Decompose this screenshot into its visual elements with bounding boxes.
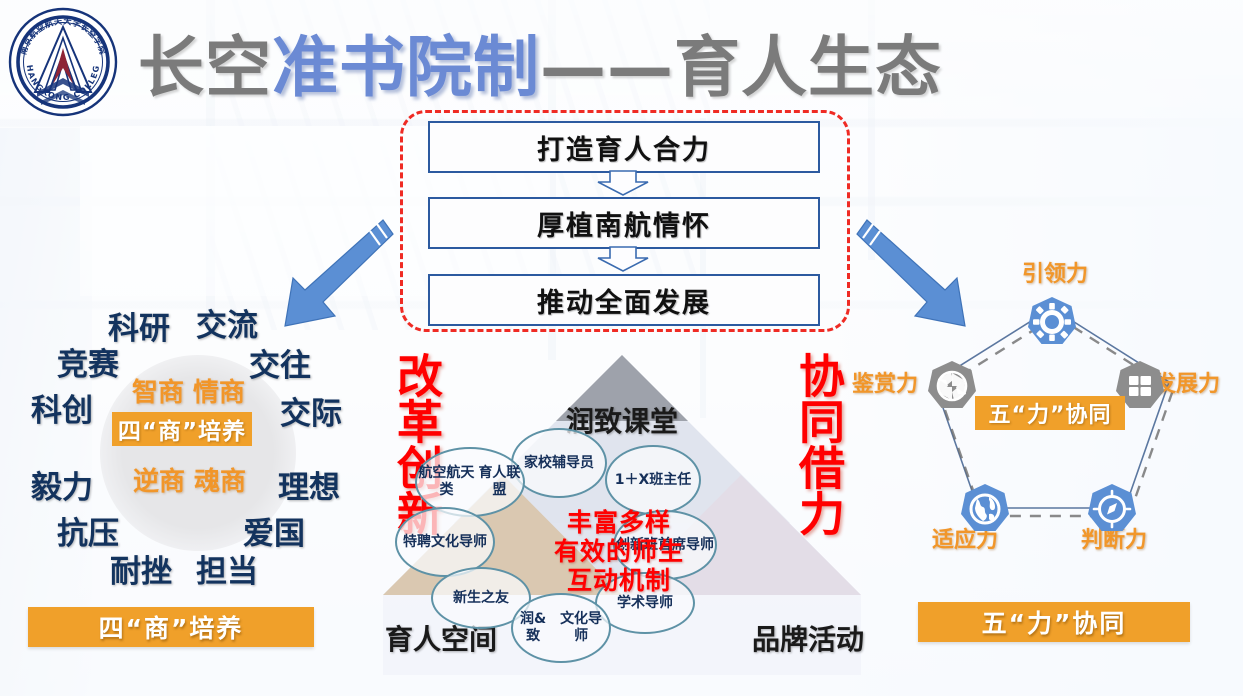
flow-step-2[interactable]: 厚植南航情怀 (428, 197, 820, 249)
pyramid-oval[interactable]: 航空航天类育人联盟 (415, 447, 525, 517)
left-keyword: 耐挫 (110, 546, 172, 591)
flow-step-3[interactable]: 推动全面发展 (428, 274, 820, 326)
pyramid-oval-line: 创新班 (616, 537, 658, 554)
flow-arrow-1-icon (592, 170, 654, 196)
left-keyword: 交往 (249, 340, 311, 385)
changkong-college-logo-icon: 南京航空航天大学长空学院 CHANGKONG COLLEGE (7, 6, 119, 118)
four-shang-inner-top: 智商 情商 (132, 372, 245, 409)
pentagon-node-label: 鉴赏力 (852, 366, 918, 398)
four-shang-chip[interactable]: 四“商”培养 (112, 412, 252, 446)
banner-five-li[interactable]: 五“力”协同 (918, 602, 1190, 642)
pyramid-oval-line: 新生之友 (453, 590, 509, 607)
pyramid-oval-line: 1＋X (615, 472, 650, 489)
pyramid-oval-line: 班主任 (649, 472, 691, 489)
title-part-accent: 准书院制 (272, 14, 540, 110)
pyramid-oval-line: 航空航天类 (417, 465, 476, 498)
left-keyword: 交流 (196, 300, 258, 345)
left-keyword: 竞赛 (57, 339, 119, 384)
pyramid-oval[interactable]: 1＋X班主任 (605, 445, 701, 515)
pyramid-oval[interactable]: 家校辅导员 (511, 428, 607, 498)
slide-root: 南京航空航天大学长空学院 CHANGKONG COLLEGE 长空 准书院制 —… (0, 0, 1243, 696)
pyramid-oval-line: 学术导师 (617, 595, 673, 612)
left-keyword: 毅力 (31, 462, 93, 507)
pyramid-oval-line: 文化导师 (431, 534, 487, 551)
gear-icon[interactable] (1026, 296, 1078, 348)
pyramid-oval-line: 特聘 (403, 534, 431, 551)
title-part-tail: ——育人生态 (540, 14, 942, 110)
aperture-icon[interactable] (926, 360, 978, 412)
pyramid-oval[interactable]: 润&致文化导师 (511, 593, 611, 663)
banner-four-shang[interactable]: 四“商”培养 (28, 607, 314, 647)
pyramid-oval[interactable]: 创新班首席导师 (613, 510, 717, 580)
pyramid-oval-line: 润&致 (513, 611, 553, 644)
pyramid-section-bottom-right-label: 品牌活动 (752, 618, 864, 658)
page-title: 长空 准书院制 ——育人生态 (138, 14, 942, 110)
five-li-chip[interactable]: 五“力”协同 (975, 396, 1125, 430)
pyramid-oval-line: 育人联盟 (476, 465, 523, 498)
left-keyword: 理想 (278, 462, 340, 507)
four-shang-inner-bottom: 逆商 魂商 (133, 461, 246, 498)
left-keyword: 交际 (280, 388, 342, 433)
pyramid-oval-line: 文化导师 (553, 611, 609, 644)
flow-arrow-2-icon (592, 246, 654, 272)
flow-step-1[interactable]: 打造育人合力 (428, 121, 820, 173)
pyramid-oval-line: 首席导师 (658, 537, 714, 554)
left-keyword: 科创 (31, 385, 93, 430)
pentagon-node-label: 引领力 (1022, 256, 1088, 288)
pyramid-oval-line: 辅导员 (552, 455, 594, 472)
big-arrow-down-left-icon (265, 212, 395, 334)
pyramid-oval-line: 家校 (524, 455, 552, 472)
left-keyword: 担当 (196, 546, 258, 591)
globe-icon[interactable] (959, 483, 1011, 535)
title-part-plain: 长空 (138, 14, 272, 110)
compass-icon[interactable] (1086, 483, 1138, 535)
